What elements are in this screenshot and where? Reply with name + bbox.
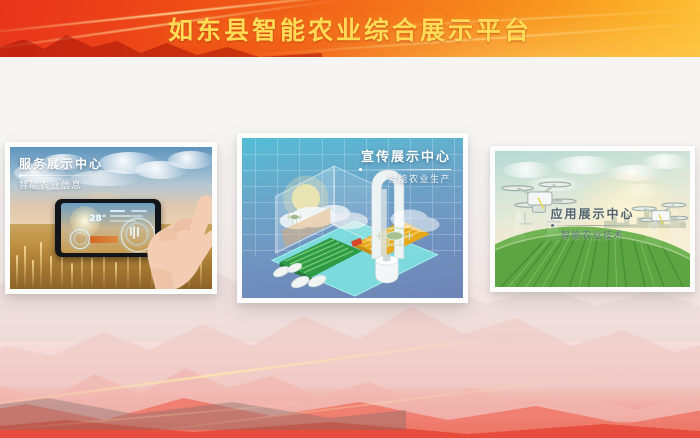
temperature-readout: 28° [89,214,106,224]
card-app-caption: 应用展示中心 智能农业技术 [495,207,690,243]
hud-ring-left-inner-icon [74,232,87,245]
card-promo-title: 宣传展示中心 [359,150,451,166]
card-app-title: 应用展示中心 [495,207,690,222]
header-banner: 如东县智能农业综合展示平台 [0,0,700,57]
card-app-divider [545,225,641,226]
card-service-image: 28° [10,147,212,289]
card-promotion-display-center[interactable]: 宣传展示中心 智能农业生产 [237,133,468,303]
phone-data-chip [90,236,118,243]
card-app-subtitle: 智能农业技术 [495,230,690,243]
card-service-divider [19,175,103,176]
card-app-image: 应用展示中心 智能农业技术 [495,151,690,287]
card-service-title: 服务展示中心 [19,157,103,172]
hand-illustration [140,173,212,289]
card-service-subtitle: 智能农业信息 [19,180,103,193]
card-promo-subtitle: 智能农业生产 [359,174,451,187]
card-application-display-center[interactable]: 应用展示中心 智能农业技术 [490,146,695,292]
card-promo-image: 宣传展示中心 智能农业生产 [242,138,463,298]
card-promo-caption: 宣传展示中心 智能农业生产 [359,150,451,187]
page-title: 如东县智能农业综合展示平台 [0,0,700,57]
card-service-caption: 服务展示中心 智能农业信息 [19,157,103,193]
card-promo-divider [359,169,451,170]
page-root: 如东县智能农业综合展示平台 [0,0,700,438]
card-service-display-center[interactable]: 28° [5,142,217,294]
